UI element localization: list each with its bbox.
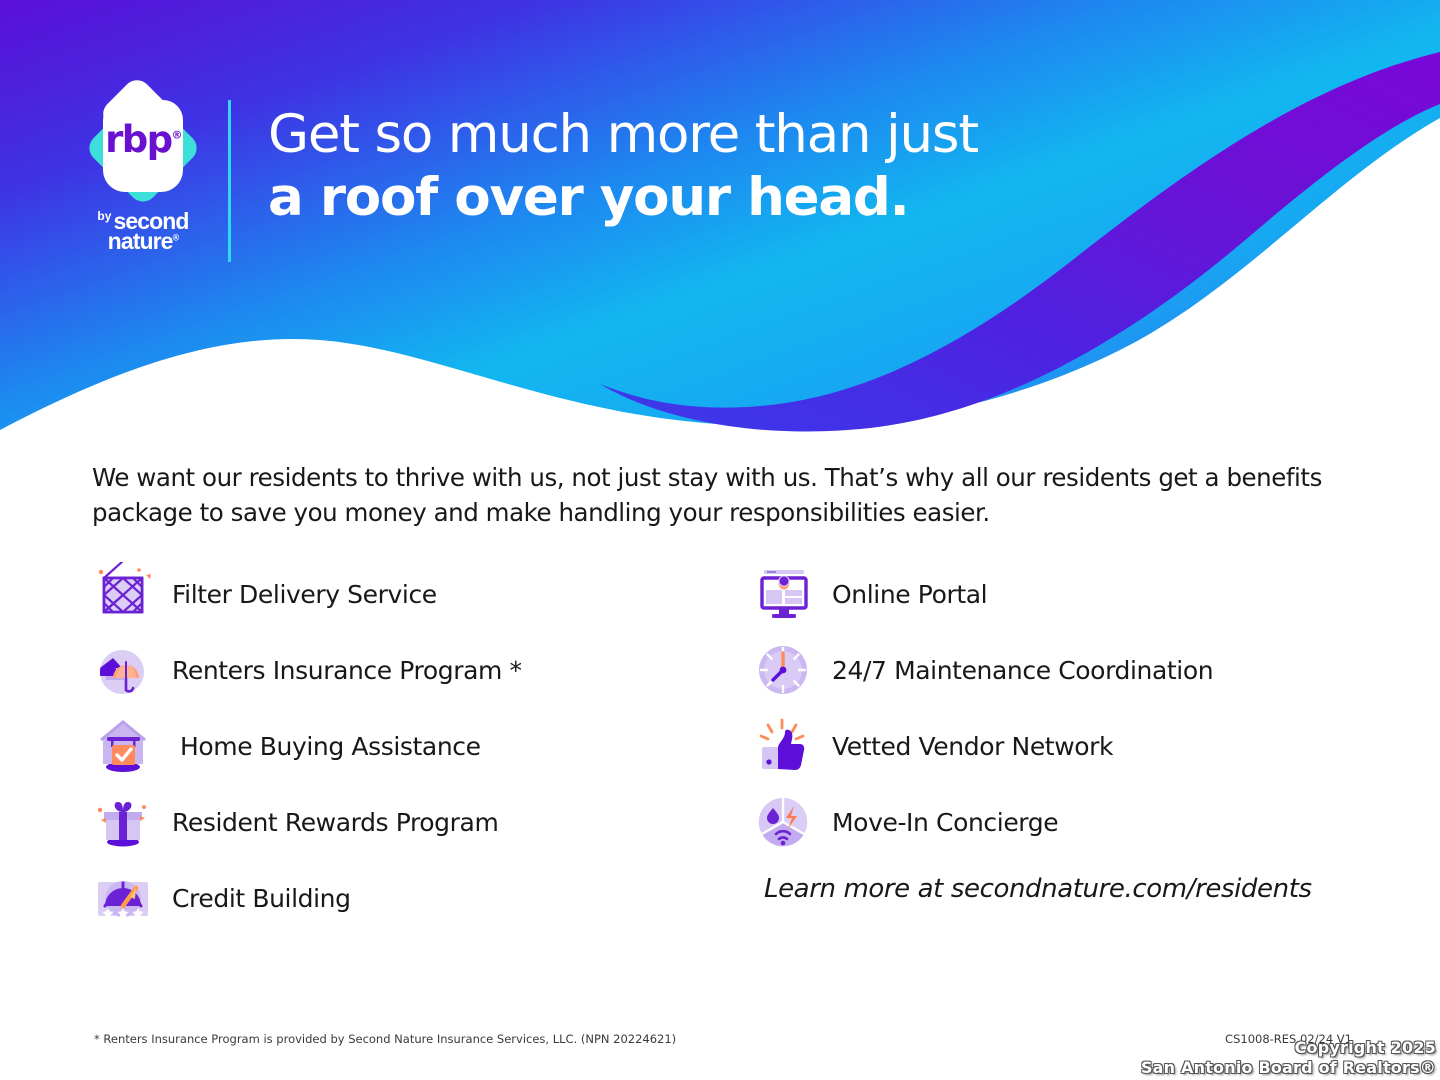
thumbs-up-icon — [752, 714, 816, 778]
intro-paragraph: We want our residents to thrive with us,… — [92, 460, 1322, 531]
benefit-label: Vetted Vendor Network — [832, 732, 1113, 761]
logo-byline: bysecond nature® — [78, 211, 208, 252]
hero-vertical-divider — [228, 100, 231, 262]
benefit-item-maintenance-coordination: 24/7 Maintenance Coordination — [752, 632, 1348, 708]
headline-line-1: Get so much more than just — [268, 104, 978, 165]
benefits-right-column: Online Portal — [752, 556, 1348, 936]
logo-byline-nature-text: nature — [108, 228, 173, 254]
watermark-line-1: Copyright 2025 — [1141, 1038, 1436, 1058]
gift-box-icon — [92, 790, 156, 854]
benefit-label: Renters Insurance Program * — [172, 656, 522, 685]
umbrella-shield-icon — [92, 638, 156, 702]
benefits-left-column: Filter Delivery Service Re — [92, 556, 752, 936]
watermark-line-2: San Antonio Board of Realtors® — [1141, 1058, 1436, 1078]
benefit-label: Filter Delivery Service — [172, 580, 437, 609]
benefit-label: 24/7 Maintenance Coordination — [832, 656, 1213, 685]
benefit-item-home-buying: Home Buying Assistance — [92, 708, 752, 784]
headline-line-2: a roof over your head. — [268, 167, 978, 228]
credit-gauge-stars-icon — [92, 866, 156, 930]
logo-byline-by: by — [97, 209, 111, 223]
benefit-item-online-portal: Online Portal — [752, 556, 1348, 632]
logo-wordmark: rbp® — [87, 118, 199, 161]
air-filter-icon — [92, 562, 156, 626]
benefit-item-resident-rewards: Resident Rewards Program — [92, 784, 752, 860]
benefit-item-vetted-vendor-network: Vetted Vendor Network — [752, 708, 1348, 784]
rbp-logo: rbp® bysecond nature® — [78, 92, 208, 257]
benefit-item-credit-building: Credit Building — [92, 860, 752, 936]
marketing-flyer-page: rbp® bysecond nature® Get so much more t… — [0, 0, 1440, 1080]
utilities-pie-icon — [752, 790, 816, 854]
benefit-label: Online Portal — [832, 580, 987, 609]
copyright-watermark: Copyright 2025 San Antonio Board of Real… — [1141, 1038, 1436, 1078]
benefit-item-renters-insurance: Renters Insurance Program * — [92, 632, 752, 708]
rbp-logo-mark: rbp® — [87, 92, 199, 204]
desktop-monitor-icon — [752, 562, 816, 626]
benefit-label: Credit Building — [172, 884, 351, 913]
hero-banner: rbp® bysecond nature® Get so much more t… — [0, 0, 1440, 440]
benefits-section: Filter Delivery Service Re — [92, 556, 1348, 936]
benefit-item-move-in-concierge: Move-In Concierge — [752, 784, 1348, 860]
clock-icon — [752, 638, 816, 702]
logo-registered-mark: ® — [172, 129, 181, 142]
benefit-label: Move-In Concierge — [832, 808, 1058, 837]
logo-wordmark-text: rbp — [105, 118, 171, 161]
hero-headline: Get so much more than just a roof over y… — [268, 104, 978, 229]
home-sign-icon — [92, 714, 156, 778]
insurance-disclaimer: * Renters Insurance Program is provided … — [94, 1032, 676, 1046]
learn-more-link[interactable]: Learn more at secondnature.com/residents — [752, 874, 1348, 904]
benefit-label: Home Buying Assistance — [172, 732, 481, 761]
logo-byline-registered: ® — [173, 232, 179, 242]
benefit-label: Resident Rewards Program — [172, 808, 498, 837]
benefit-item-filter-delivery: Filter Delivery Service — [92, 556, 752, 632]
